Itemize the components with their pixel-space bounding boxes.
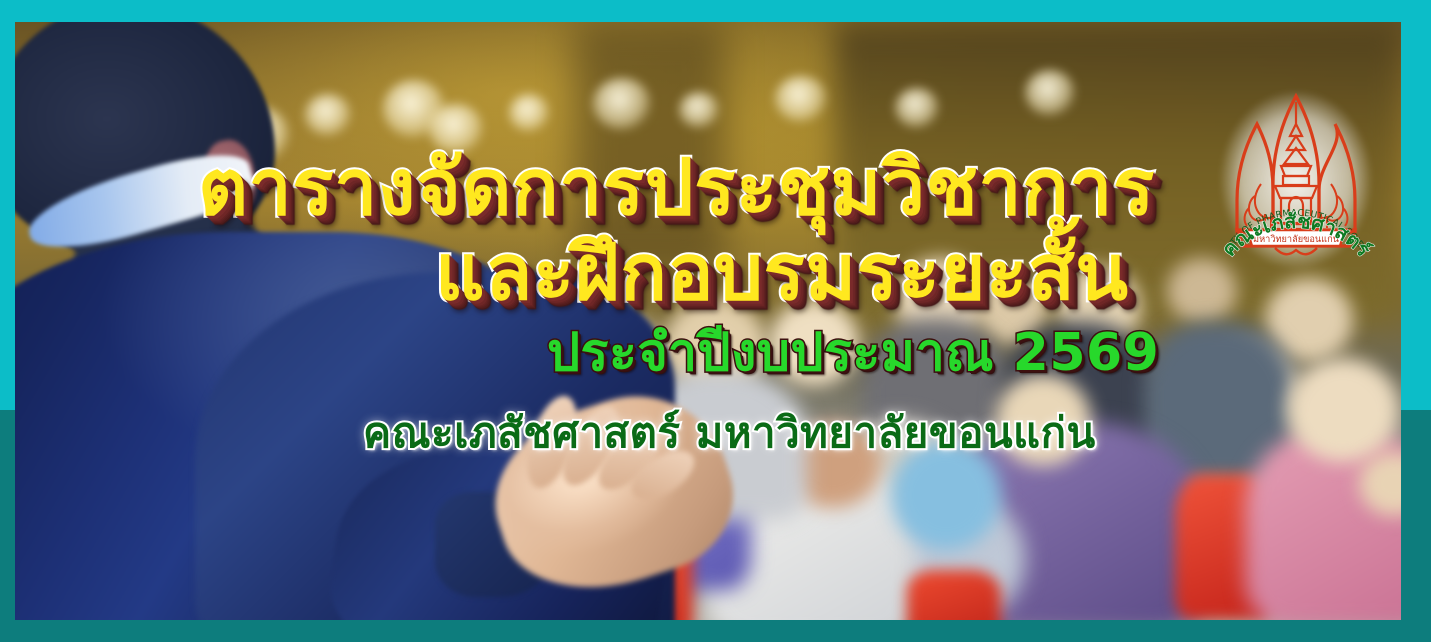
event-banner: ตารางจัดการประชุมวิชาการ และฝึกอบรมระยะส…: [0, 0, 1431, 642]
audience-figure: [1287, 358, 1399, 462]
fiscal-year-line: ประจำปีงบประมาณ 2569: [547, 310, 1159, 393]
ceiling-light-bokeh: [895, 88, 939, 128]
organization-line: คณะเภสัชศาสตร์ มหาวิทยาลัยขอนแก่น: [363, 400, 1096, 466]
ceiling-light-bokeh: [1025, 70, 1075, 116]
conference-photo: ตารางจัดการประชุมวิชาการ และฝึกอบรมระยะส…: [15, 22, 1401, 620]
ceiling-light-bokeh: [775, 76, 827, 122]
university-logo: มหาวิทยาลัยขอนแก่น FACULTY OF PHARMACEUT…: [1211, 80, 1381, 302]
auditorium-seat: [907, 570, 1001, 620]
logo-emblem-icon: มหาวิทยาลัยขอนแก่น FACULTY OF PHARMACEUT…: [1211, 80, 1381, 302]
ceiling-light-bokeh: [593, 78, 651, 130]
ceiling-light-bokeh: [679, 92, 719, 128]
